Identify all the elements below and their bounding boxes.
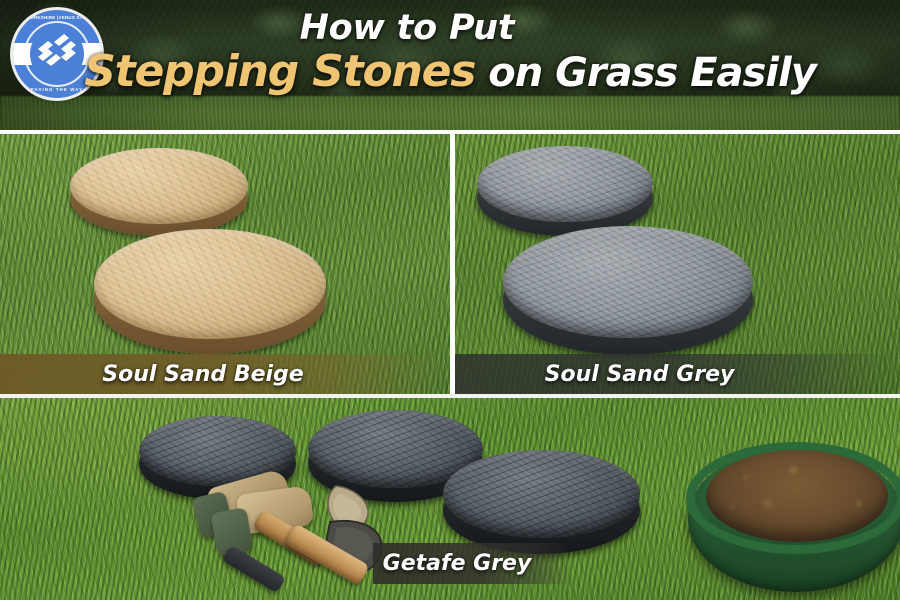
caption-label-grey: Soul Sand Grey <box>545 362 735 387</box>
stone-face <box>477 146 653 222</box>
stone-face <box>443 450 640 538</box>
stone-face <box>70 148 248 224</box>
stone-beige-back <box>70 148 248 224</box>
title-highlight: Stepping Stones <box>84 46 475 97</box>
caption-label-beige: Soul Sand Beige <box>102 362 303 387</box>
stone-grey-front <box>503 226 753 338</box>
title-block: How to Put Stepping Stones on Grass Easi… <box>0 8 900 99</box>
header-banner: EAST YORKSHIRE (VENUS STONES) LTD. PAVIN… <box>0 0 900 131</box>
caption-bar-grey: Soul Sand Grey <box>455 354 900 394</box>
caption-label-getafe: Getafe Grey <box>383 551 532 576</box>
stone-grey-back <box>477 146 653 222</box>
stone-face <box>94 229 326 339</box>
divider-vertical <box>450 131 455 395</box>
title-line-1: How to Put <box>0 8 900 48</box>
stone-beige-front <box>94 229 326 339</box>
soil-pile <box>706 450 888 542</box>
stone-face <box>503 226 753 338</box>
title-rest: on Grass Easily <box>475 50 816 96</box>
infographic-canvas: EAST YORKSHIRE (VENUS STONES) LTD. PAVIN… <box>0 0 900 600</box>
caption-bar-getafe: Getafe Grey <box>373 543 569 584</box>
caption-bar-beige: Soul Sand Beige <box>0 354 450 394</box>
divider-middle-horizontal <box>0 394 900 398</box>
title-line-2: Stepping Stones on Grass Easily <box>0 46 900 99</box>
stone-getafe-right <box>443 450 640 538</box>
